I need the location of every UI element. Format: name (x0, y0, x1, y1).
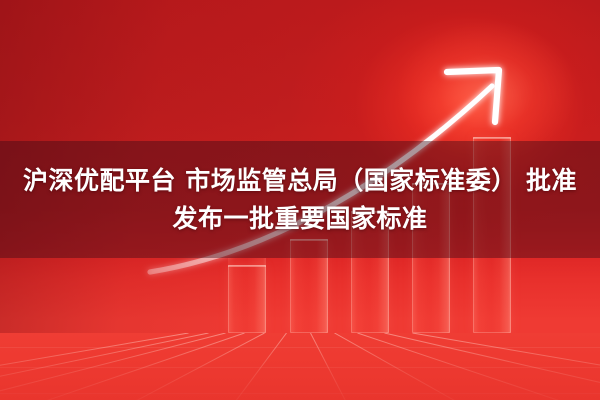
headline: 沪深优配平台 市场监管总局（国家标准委） 批准 发布一批重要国家标准 (0, 141, 600, 258)
chart-bar-lit-section (290, 258, 328, 333)
chart-bar (228, 265, 266, 333)
chart-bar-lit-section (351, 258, 389, 333)
chart-bar-lit-section (228, 258, 266, 333)
headline-line-1: 沪深优配平台 市场监管总局（国家标准委） 批准 (23, 165, 577, 196)
banner-image: 沪深优配平台 市场监管总局（国家标准委） 批准 发布一批重要国家标准 (0, 0, 600, 400)
perspective-grid-floor (0, 333, 600, 400)
floor-grid-horizontal (0, 367, 600, 368)
chart-bar-lit-section (412, 258, 450, 333)
headline-line-2: 发布一批重要国家标准 (172, 203, 427, 234)
floor-grid-horizontal (0, 393, 600, 394)
floor-grid-horizontal (0, 347, 600, 348)
chart-bar-lit-section (473, 258, 511, 333)
